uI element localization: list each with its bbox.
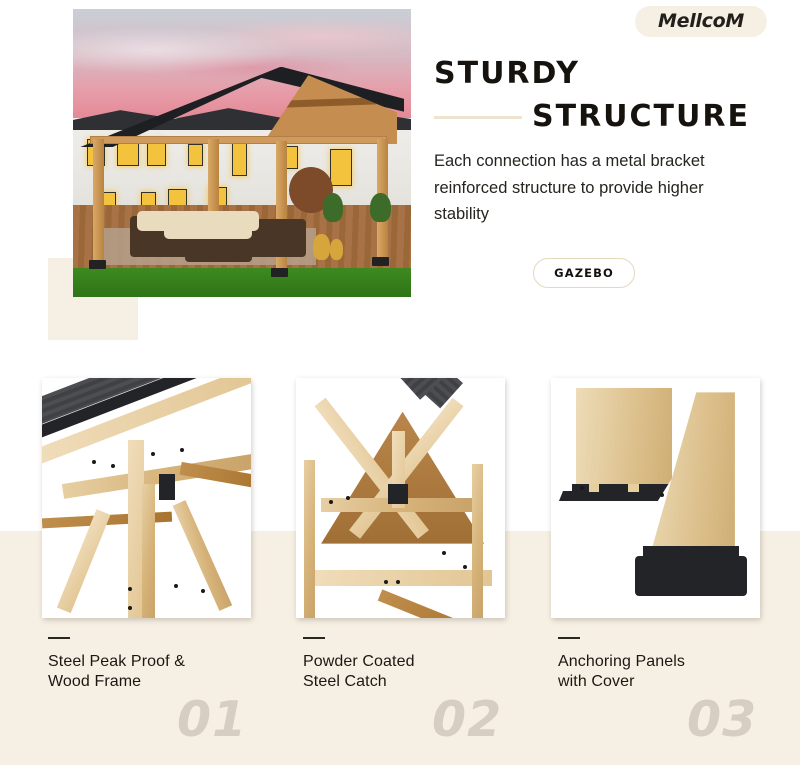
feature-caption-1: Steel Peak Proof & Wood Frame bbox=[48, 637, 263, 693]
headline: STURDY STRUCTURE bbox=[434, 59, 764, 132]
headline-accent-rule bbox=[434, 116, 522, 119]
headline-row-2: STRUCTURE bbox=[434, 102, 764, 132]
caption-dash-3 bbox=[558, 637, 580, 639]
gazebo-badge-label: GAZEBO bbox=[554, 266, 614, 280]
hero-vase-a bbox=[313, 234, 330, 260]
headline-line-2: STRUCTURE bbox=[532, 102, 750, 132]
gazebo-badge: GAZEBO bbox=[533, 258, 635, 288]
feature-cards bbox=[0, 378, 800, 618]
feature-title-1-line-1: Steel Peak Proof & bbox=[48, 652, 263, 672]
body-copy: Each connection has a metal bracket rein… bbox=[434, 148, 740, 228]
gazebo-post-left bbox=[93, 139, 104, 266]
feature-card-image-3 bbox=[551, 378, 760, 618]
hero-vase-b bbox=[330, 239, 344, 259]
brand-logo: MellcoM bbox=[635, 6, 767, 37]
gazebo-post-foot-right bbox=[372, 257, 389, 266]
hero-shrub-a bbox=[323, 193, 343, 222]
feature-title-3-line-2: with Cover bbox=[558, 672, 773, 692]
feature-title-1-line-2: Wood Frame bbox=[48, 672, 263, 692]
caption-dash-1 bbox=[48, 637, 70, 639]
feature-caption-2: Powder Coated Steel Catch bbox=[303, 637, 518, 693]
hero-shrub-b bbox=[370, 193, 390, 222]
hero-image bbox=[73, 9, 411, 297]
feature-title-3-line-1: Anchoring Panels bbox=[558, 652, 773, 672]
gazebo-header-beam bbox=[90, 136, 387, 144]
hero-lawn bbox=[73, 265, 411, 297]
feature-card-image-1 bbox=[42, 378, 251, 618]
feature-caption-3: Anchoring Panels with Cover bbox=[558, 637, 773, 693]
hero-cushion-seat bbox=[164, 225, 252, 239]
feature-title-2-line-2: Steel Catch bbox=[303, 672, 518, 692]
feature-number-2: 02 bbox=[432, 695, 502, 744]
feature-number-3: 03 bbox=[687, 695, 757, 744]
feature-number-1: 01 bbox=[177, 695, 247, 744]
gazebo-post-foot-left bbox=[89, 260, 106, 269]
headline-line-1: STURDY bbox=[434, 59, 764, 89]
gazebo-post-foot-center bbox=[271, 268, 288, 277]
feature-title-2-line-1: Powder Coated bbox=[303, 652, 518, 672]
brand-logo-text: MellcoM bbox=[658, 12, 744, 31]
caption-dash-2 bbox=[303, 637, 325, 639]
feature-card-image-2 bbox=[296, 378, 505, 618]
